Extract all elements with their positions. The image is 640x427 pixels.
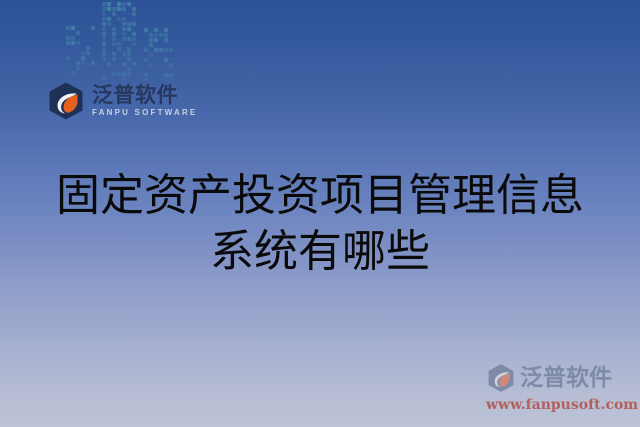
brand-logo: 泛普软件 FANPU SOFTWARE [46,76,196,126]
page-title-line-1: 固定资产投资项目管理信息 [0,168,640,224]
pixel-city-canvas [66,0,190,80]
fanpu-hexagon-logo-icon [46,81,86,121]
page-title-line-2: 系统有哪些 [0,224,640,280]
fanpu-hexagon-watermark-icon [486,363,516,393]
brand-name-cn: 泛普软件 [92,85,197,106]
page-title: 固定资产投资项目管理信息 系统有哪些 [0,168,640,280]
watermark-url: www.fanpusoft.com [486,397,634,413]
watermark-name-cn: 泛普软件 [520,367,612,390]
watermark: 泛普软件 www.fanpusoft.com [486,361,634,419]
promo-banner: 泛普软件 FANPU SOFTWARE 固定资产投资项目管理信息 系统有哪些 泛… [0,0,640,427]
brand-name-en: FANPU SOFTWARE [92,109,197,117]
pixel-city-decoration [66,0,190,80]
brand-wordmark: 泛普软件 FANPU SOFTWARE [92,85,197,117]
watermark-brand-row: 泛普软件 [486,361,634,395]
